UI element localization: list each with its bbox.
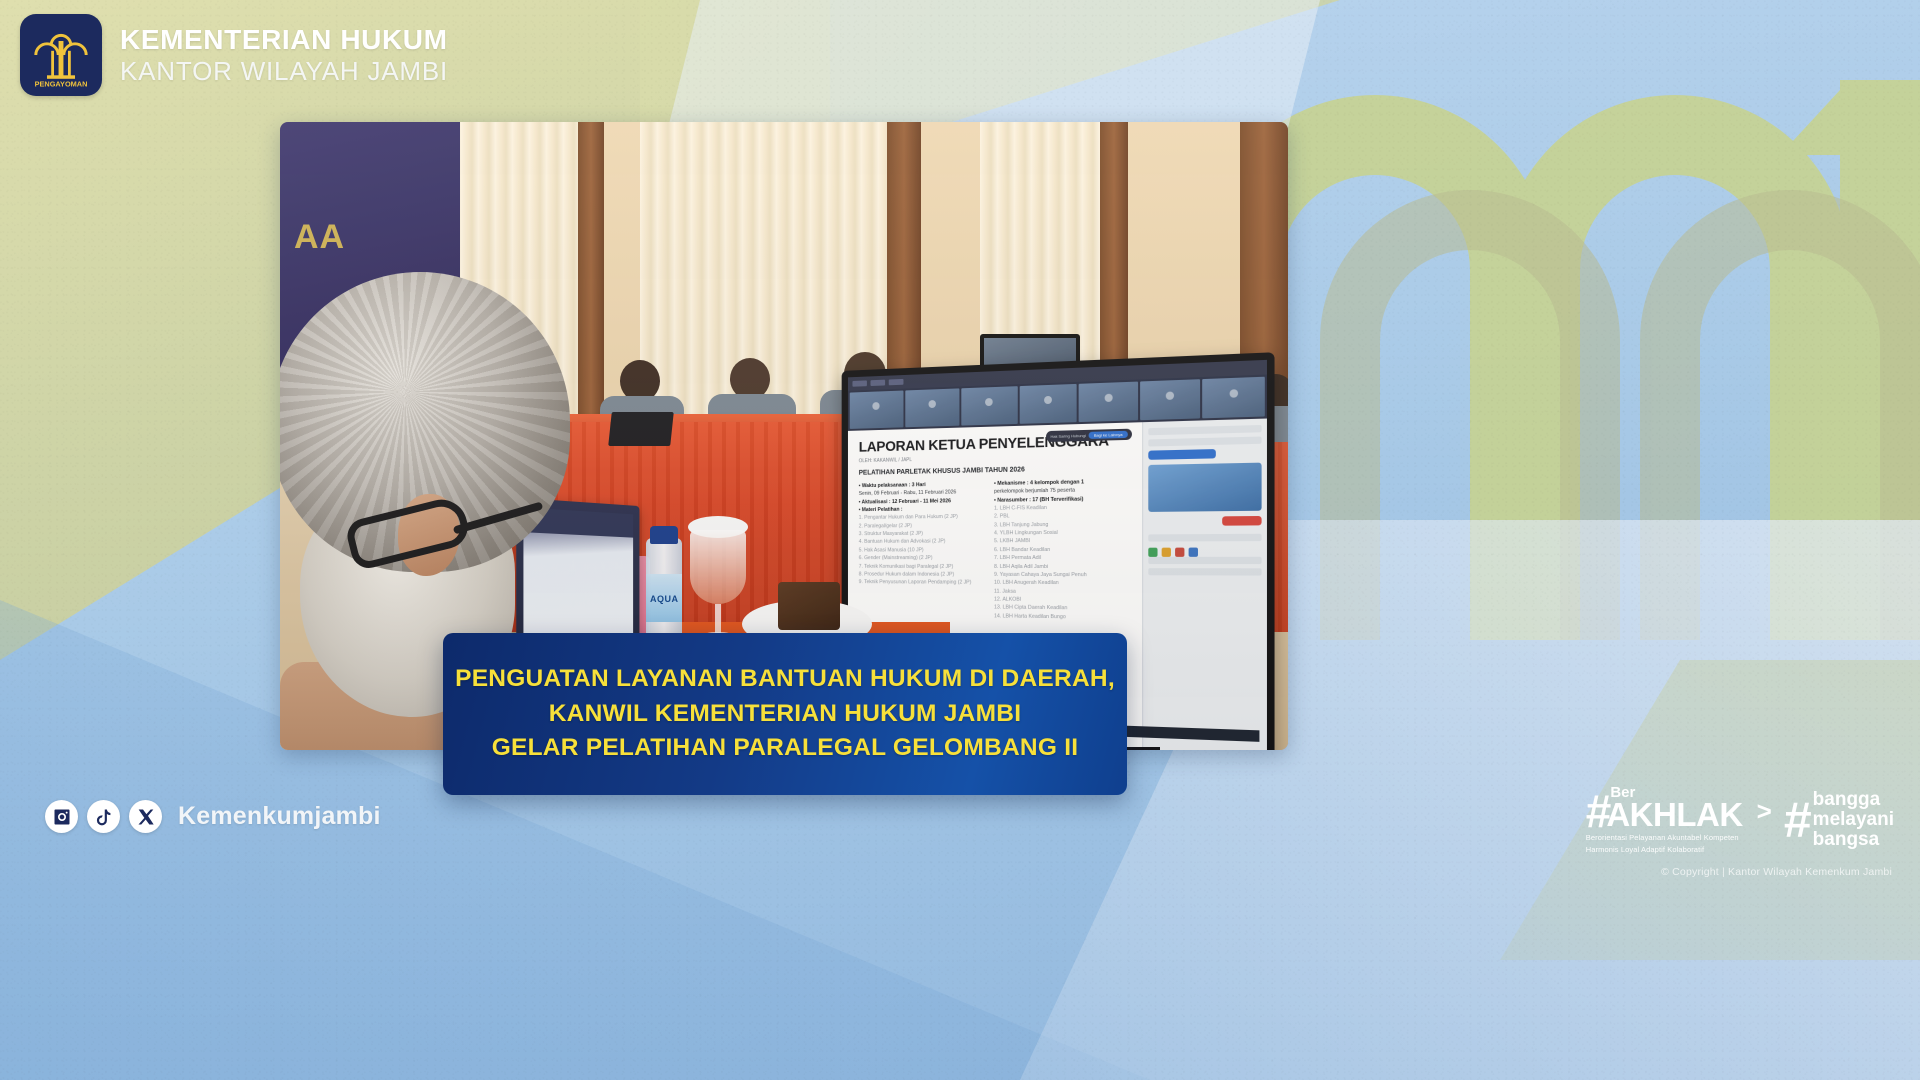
berakhlak-tagline-1: Berorientasi Pelayanan Akuntabel Kompete…: [1586, 833, 1739, 843]
instagram-icon[interactable]: [45, 800, 78, 833]
berakhlak-word: AKHLAK: [1606, 800, 1742, 830]
participant-tile: [1019, 384, 1077, 424]
program-badges: # Ber AKHLAK Berorientasi Pelayanan Akun…: [1586, 785, 1894, 855]
berakhlak-badge: # Ber AKHLAK Berorientasi Pelayanan Akun…: [1586, 785, 1743, 855]
drinking-glass: [690, 530, 746, 648]
berakhlak-tagline-2: Harmonis Loyal Adaptif Kolaboratif: [1586, 845, 1704, 855]
page-header: PENGAYOMAN KEMENTERIAN HUKUM KANTOR WILA…: [20, 14, 448, 96]
headline-banner: PENGUATAN LAYANAN BANTUAN HUKUM DI DAERA…: [443, 633, 1127, 795]
slide-item: 5. Hak Asasi Manusia (10 JP): [859, 546, 987, 554]
hash-icon: #: [1586, 793, 1609, 830]
side-panel-app-icons[interactable]: [1148, 547, 1262, 557]
x-twitter-icon[interactable]: [129, 800, 162, 833]
hash-icon: #: [1784, 801, 1809, 840]
berakhlak-words: Ber AKHLAK: [1606, 785, 1742, 830]
bangga-line-1: bangga: [1813, 790, 1894, 810]
social-handle: Kemenkumjambi: [178, 802, 381, 831]
side-panel-header: [1148, 425, 1262, 435]
chevron-right-icon: >: [1757, 796, 1772, 827]
person-eyeglasses: [348, 508, 538, 560]
participant-tile: [905, 388, 960, 427]
bottle-label: AQUA: [646, 574, 682, 622]
side-panel-row: [1148, 568, 1262, 575]
social-media-bar: Kemenkumjambi: [45, 800, 381, 833]
headline-line-2: KANWIL KEMENTERIAN HUKUM JAMBI: [549, 697, 1022, 732]
side-panel-action-button[interactable]: [1148, 449, 1215, 460]
pengayoman-banyan-tree-icon: PENGAYOMAN: [26, 20, 96, 90]
backdrop-text: AA: [294, 218, 345, 257]
header-title: KEMENTERIAN HUKUM: [120, 25, 448, 54]
copyright-text: © Copyright | Kantor Wilayah Kemenkum Ja…: [1661, 866, 1892, 878]
brownie-cake: [778, 582, 840, 630]
participant-tile: [1140, 379, 1201, 420]
participant-tile: [850, 391, 903, 429]
side-panel-preview-card: [1148, 463, 1262, 512]
bangga-line-2: melayani: [1813, 810, 1894, 830]
side-panel-record-badge: [1222, 516, 1261, 526]
participant-tile: [1203, 377, 1265, 419]
participant-tile: [1079, 382, 1138, 423]
slide-subtitle: PELATIHAN PARLETAK KHUSUS JAMBI TAHUN 20…: [859, 464, 1130, 476]
slide-column-right: • Mekanisme : 4 kelompok dengan 1 perkel…: [994, 477, 1130, 622]
meeting-side-panel: [1142, 419, 1267, 750]
pengayoman-logo-badge: PENGAYOMAN: [20, 14, 102, 96]
side-panel-row: [1148, 557, 1262, 564]
slide-item: 14. LBH Harta Keadilan Bungo: [994, 612, 1130, 622]
slide-item: 8. LBH Aqila Adil Jambi: [994, 562, 1130, 571]
headline-line-1: PENGUATAN LAYANAN BANTUAN HUKUM DI DAERA…: [455, 662, 1115, 697]
bangga-words: bangga melayani bangsa: [1813, 790, 1894, 851]
side-panel-row: [1148, 534, 1262, 542]
bottle-cap: [650, 526, 678, 544]
slide-item: 6. LBH Bandar Keadilan: [994, 545, 1130, 554]
side-panel-search[interactable]: [1148, 436, 1262, 446]
bangga-line-3: bangsa: [1813, 830, 1894, 850]
headline-line-3: GELAR PELATIHAN PARALEGAL GELOMBANG II: [492, 731, 1079, 766]
header-text-block: KEMENTERIAN HUKUM KANTOR WILAYAH JAMBI: [120, 25, 448, 85]
share-button[interactable]: Bagi ke Lainnya: [1089, 431, 1128, 439]
slide-item: 7. Teknik Komunikasi bagi Paralegal (2 J…: [859, 562, 987, 570]
participant-tile: [961, 386, 1017, 425]
slide-item: 7. LBH Permata Adil: [994, 554, 1130, 563]
bangga-melayani-bangsa-badge: # bangga melayani bangsa: [1784, 790, 1894, 851]
slide-item: 6. Gender (Mainstreaming) (2 JP): [859, 554, 987, 562]
tiktok-icon[interactable]: [87, 800, 120, 833]
laptop: [608, 412, 674, 446]
slide-column-left: • Waktu pelaksanaan : 3 Hari Senin, 09 F…: [859, 480, 987, 620]
slide-item: 9. Teknik Penyusunan Laporan Pendamping …: [859, 579, 987, 588]
slide-columns: • Waktu pelaksanaan : 3 Hari Senin, 09 F…: [859, 477, 1130, 622]
svg-text:PENGAYOMAN: PENGAYOMAN: [35, 80, 88, 89]
berakhlak-row: # Ber AKHLAK: [1586, 785, 1743, 830]
share-controls[interactable]: Hak Saring Hubungi Bagi ke Lainnya: [1046, 429, 1131, 442]
share-note: Hak Saring Hubungi: [1050, 433, 1085, 439]
header-subtitle: KANTOR WILAYAH JAMBI: [120, 58, 448, 85]
